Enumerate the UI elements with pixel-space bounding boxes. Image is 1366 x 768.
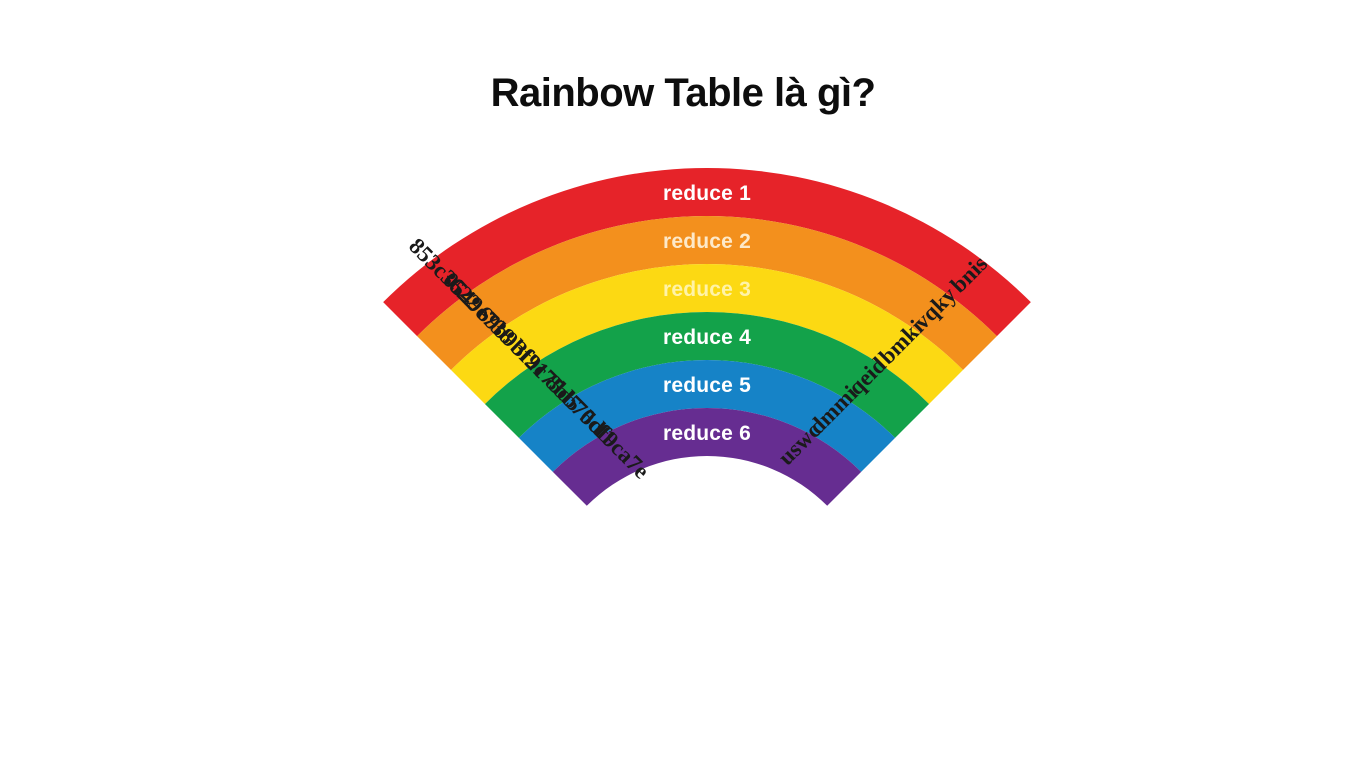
band-label-3: reduce 3 [663, 278, 751, 301]
rainbow-arc-svg: reduce 1reduce 2reduce 3reduce 4reduce 5… [0, 0, 1366, 768]
band-label-6: reduce 6 [663, 422, 751, 445]
band-label-5: reduce 5 [663, 374, 751, 397]
band-label-4: reduce 4 [663, 326, 751, 349]
band-label-1: reduce 1 [663, 182, 751, 205]
band-label-2: reduce 2 [663, 230, 751, 253]
rainbow-arc-figure: reduce 1reduce 2reduce 3reduce 4reduce 5… [0, 0, 1366, 768]
page-root: Rainbow Table là gì? reduce 1reduce 2red… [0, 0, 1366, 768]
